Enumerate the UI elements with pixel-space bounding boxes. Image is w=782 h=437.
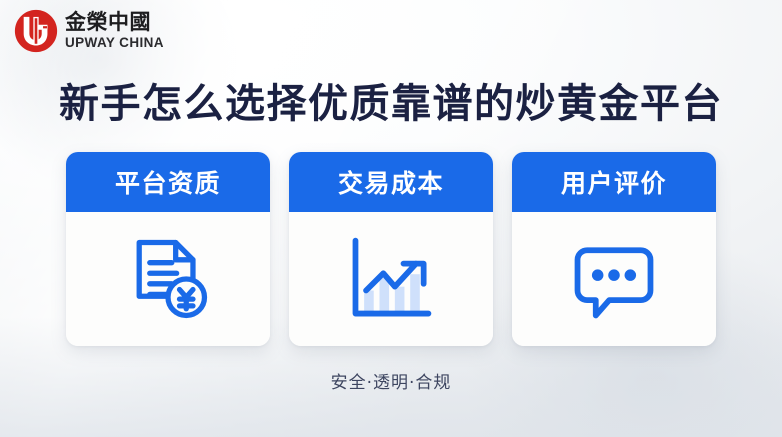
upway-circular-monogram-icon xyxy=(14,9,58,53)
bar-chart-trend-up-icon xyxy=(343,231,439,327)
card-body xyxy=(66,212,270,346)
card-title: 平台资质 xyxy=(115,164,221,200)
brand-name-en: UPWAY CHINA xyxy=(65,36,164,50)
card-header: 平台资质 xyxy=(66,152,270,212)
card-header: 交易成本 xyxy=(289,152,493,212)
card-body xyxy=(512,212,716,346)
card-header: 用户评价 xyxy=(512,152,716,212)
brand-wordmark: 金榮中國 UPWAY CHINA xyxy=(65,12,164,50)
page-title: 新手怎么选择优质靠谱的炒黄金平台 xyxy=(0,71,782,129)
feature-card-user-reviews[interactable]: 用户评价 xyxy=(512,152,716,346)
feature-card-row: 平台资质 交易成本 xyxy=(66,152,716,346)
card-body xyxy=(289,212,493,346)
footer-tagline: 安全·透明·合规 xyxy=(0,368,782,393)
infographic-slide: 金榮中國 UPWAY CHINA 新手怎么选择优质靠谱的炒黄金平台 平台资质 xyxy=(0,0,782,437)
card-title: 交易成本 xyxy=(338,164,444,200)
brand-name-cn: 金榮中國 xyxy=(65,12,164,33)
card-title: 用户评价 xyxy=(561,164,667,200)
feature-card-trading-cost[interactable]: 交易成本 xyxy=(289,152,493,346)
document-with-yuan-coin-icon xyxy=(120,231,216,327)
speech-bubble-dots-icon xyxy=(566,231,662,327)
feature-card-platform-qualification[interactable]: 平台资质 xyxy=(66,152,270,346)
brand-logo: 金榮中國 UPWAY CHINA xyxy=(14,9,164,53)
